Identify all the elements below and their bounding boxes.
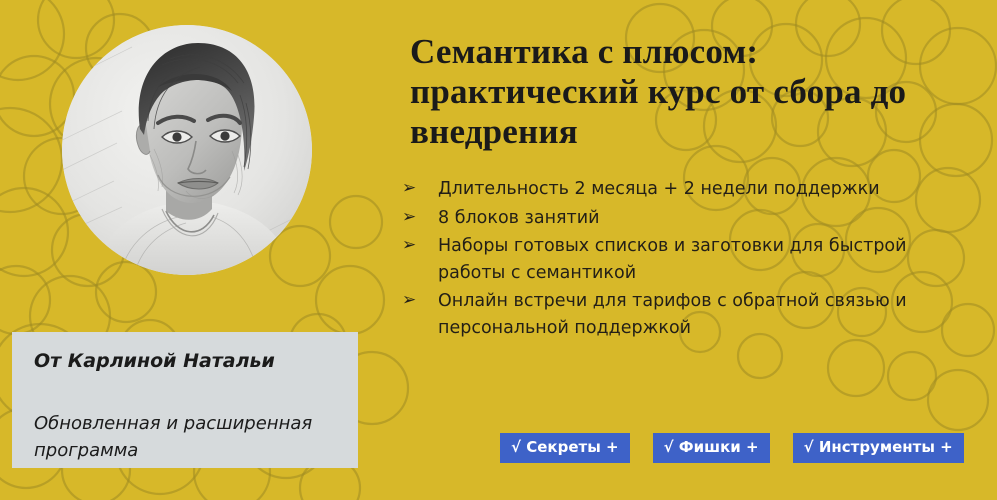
list-item: ➢ Онлайн встречи для тарифов с обратной …: [400, 288, 945, 341]
list-item: ➢ Длительность 2 месяца + 2 недели подде…: [400, 176, 945, 203]
badge-tips[interactable]: √ Фишки +: [653, 433, 770, 463]
list-item-label: Онлайн встречи для тарифов с обратной св…: [438, 291, 907, 338]
arrow-bullet-icon: ➢: [402, 204, 416, 231]
promo-slide: Семантика с плюсом: практический курс от…: [0, 0, 997, 500]
arrow-bullet-icon: ➢: [402, 232, 416, 259]
list-item-label: Длительность 2 месяца + 2 недели поддерж…: [438, 179, 880, 199]
badge-tools[interactable]: √ Инструменты +: [793, 433, 964, 463]
list-item-label: 8 блоков занятий: [438, 208, 599, 228]
arrow-bullet-icon: ➢: [402, 287, 416, 314]
author-name: От Карлиной Натальи: [34, 348, 336, 374]
list-item: ➢ 8 блоков занятий: [400, 205, 945, 232]
author-card: От Карлиной Натальи Обновленная и расшир…: [12, 332, 358, 468]
badge-secrets[interactable]: √ Секреты +: [500, 433, 630, 463]
avatar: [62, 25, 312, 275]
author-subtitle: Обновленная и расширенная программа: [34, 410, 336, 464]
list-item-label: Наборы готовых списков и заготовки для б…: [438, 236, 907, 283]
arrow-bullet-icon: ➢: [402, 175, 416, 202]
portrait-sketch-image: [62, 25, 312, 275]
page-title: Семантика с плюсом: практический курс от…: [410, 32, 970, 152]
badge-row: √ Секреты + √ Фишки + √ Инструменты +: [500, 433, 964, 463]
feature-list: ➢ Длительность 2 месяца + 2 недели подде…: [400, 176, 945, 343]
list-item: ➢ Наборы готовых списков и заготовки для…: [400, 233, 945, 286]
